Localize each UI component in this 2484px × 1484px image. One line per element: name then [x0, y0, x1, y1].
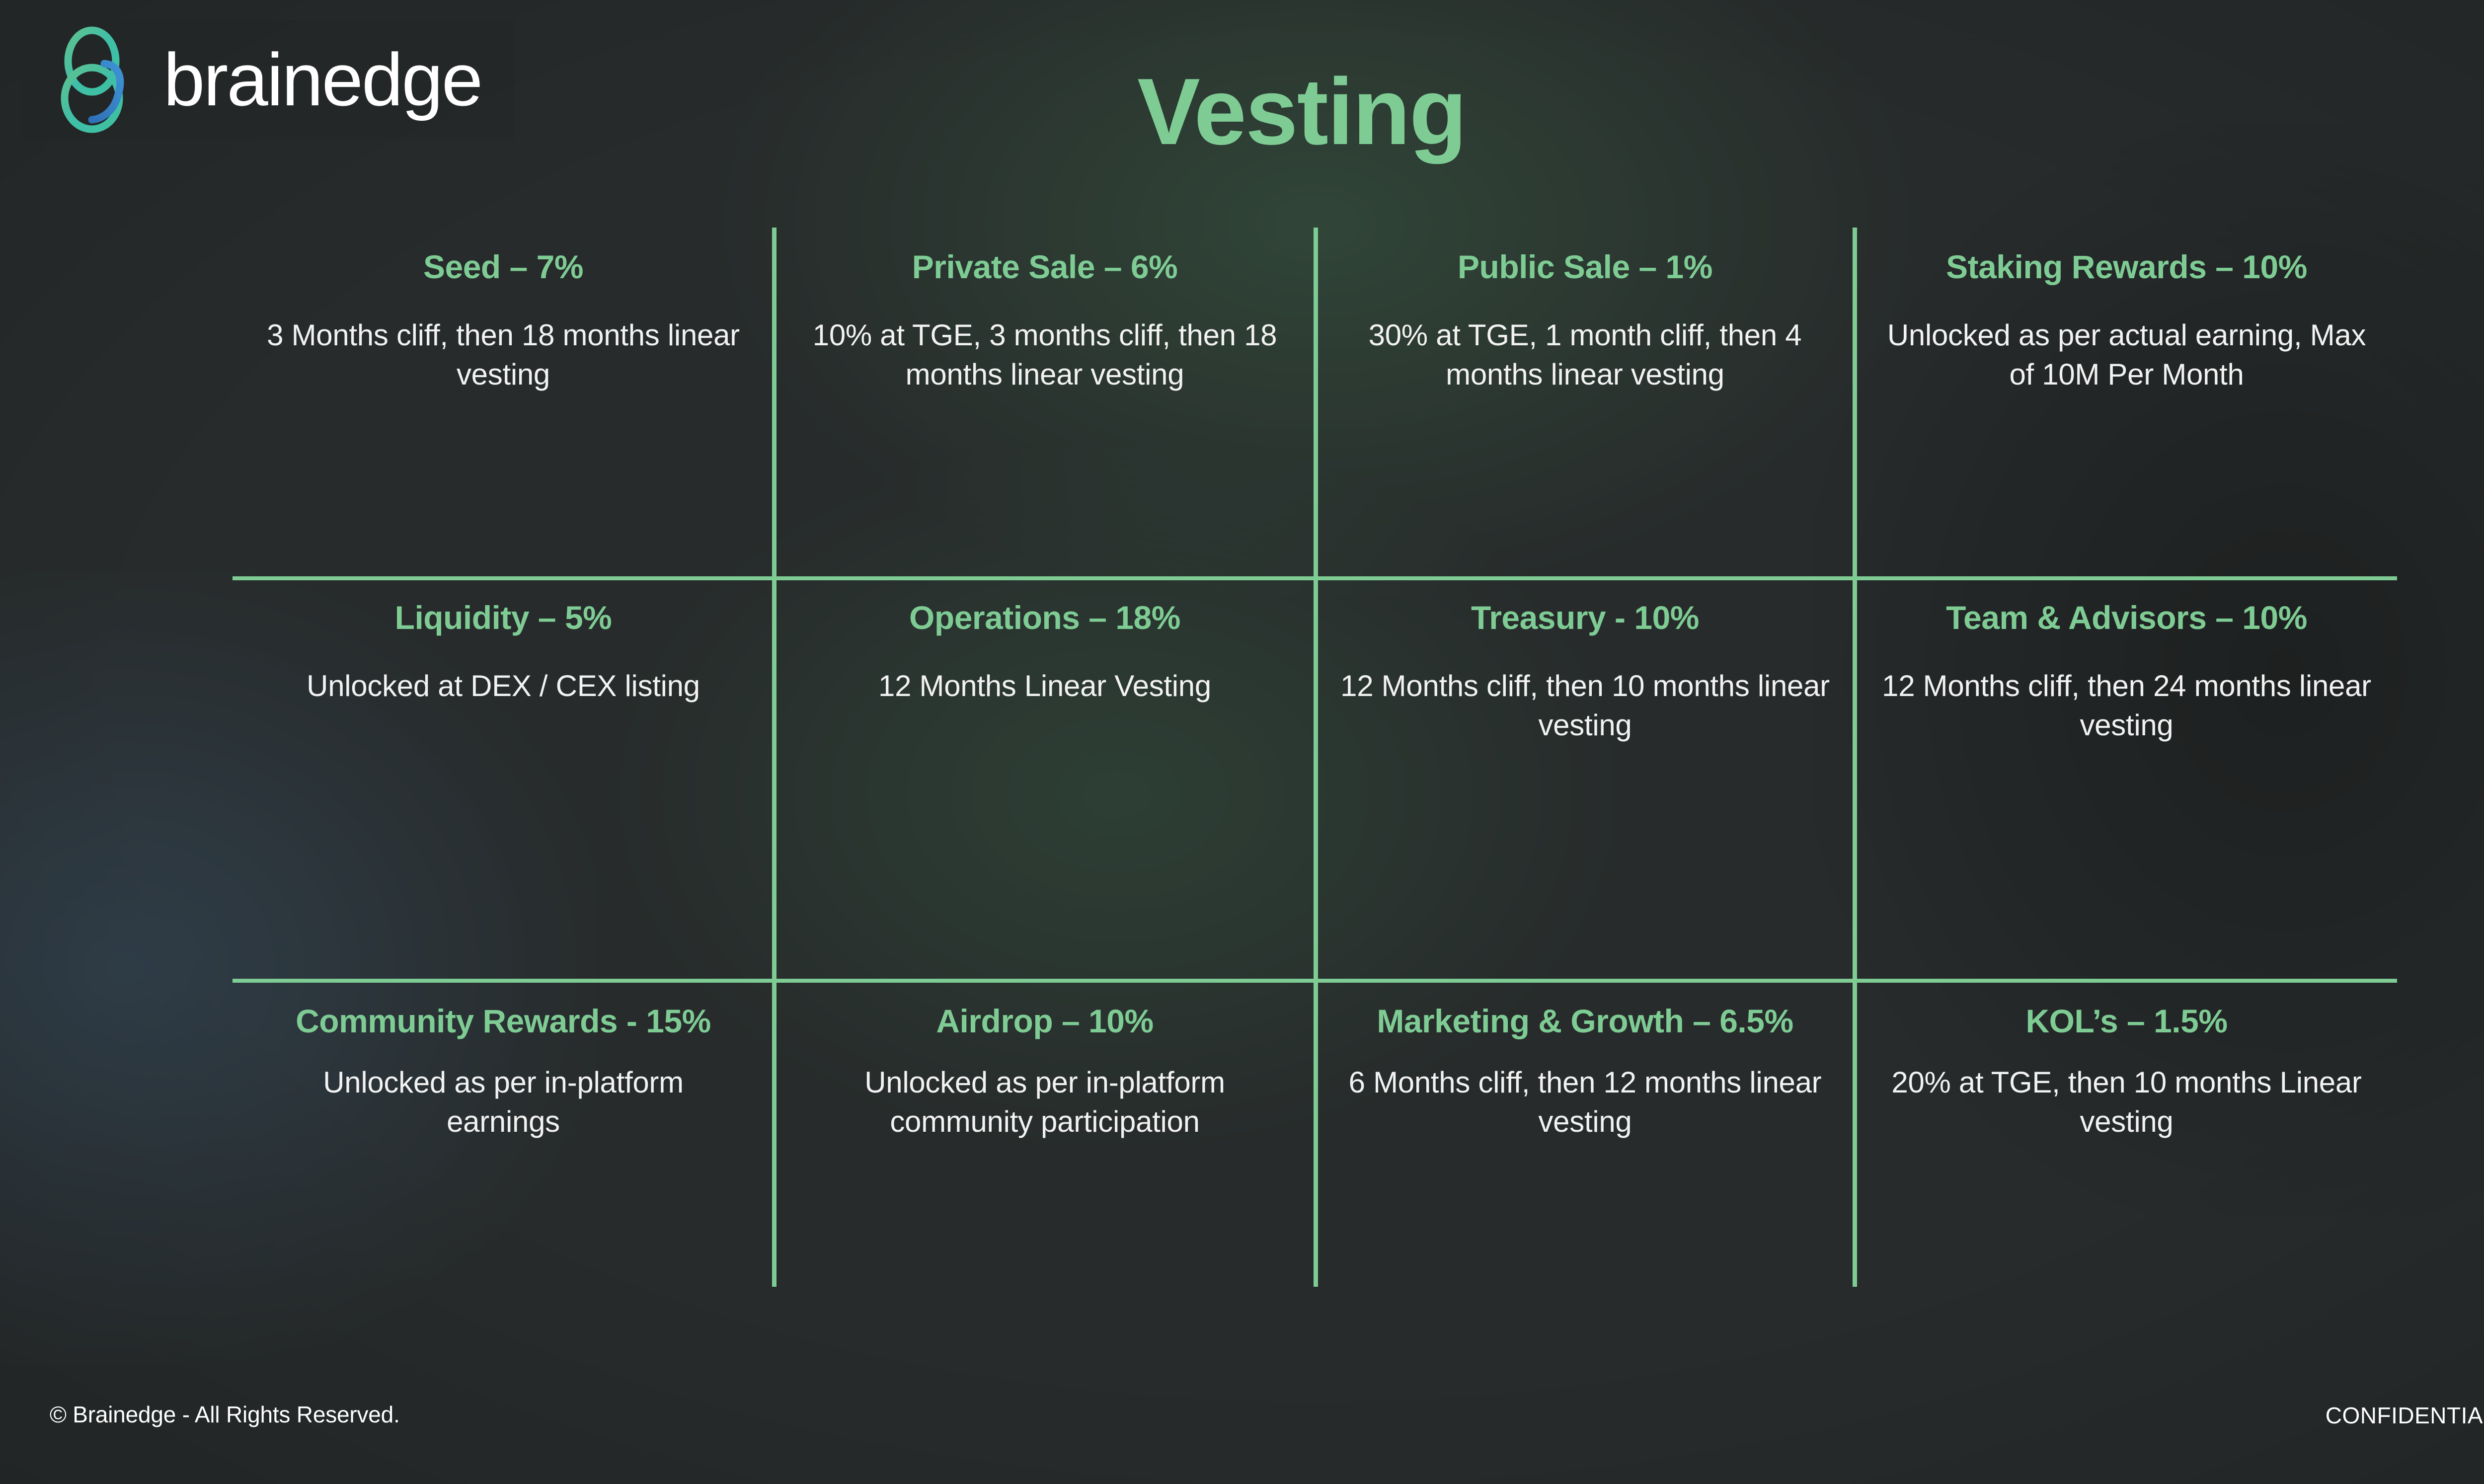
grid-divider-horizontal-1 — [233, 576, 2397, 580]
vesting-cell-body: 6 Months cliff, then 12 months linear ve… — [1334, 1063, 1836, 1141]
vesting-cell-title: Airdrop – 10% — [936, 1001, 1153, 1042]
grid-divider-horizontal-2 — [233, 979, 2397, 983]
vesting-cell-title: Liquidity – 5% — [395, 597, 612, 638]
vesting-cell-body: 12 Months cliff, then 24 months linear v… — [1876, 666, 2378, 745]
vesting-cell-body: 12 Months cliff, then 10 months linear v… — [1334, 666, 1836, 745]
footer-meta: CONFIDENTIAL 21 — [2326, 1400, 2484, 1431]
vesting-cell-body: Unlocked as per in-platform earnings — [275, 1063, 732, 1141]
grid-divider-vertical-1 — [772, 228, 776, 1287]
vesting-cell-body: Unlocked at DEX / CEX listing — [307, 666, 700, 705]
vesting-cell-body: 20% at TGE, then 10 months Linear vestin… — [1876, 1063, 2378, 1141]
grid-divider-vertical-3 — [1853, 228, 1857, 1287]
vesting-cell-liquidity: Liquidity – 5% Unlocked at DEX / CEX lis… — [233, 578, 774, 981]
vesting-cell-seed: Seed – 7% 3 Months cliff, then 18 months… — [233, 228, 774, 578]
vesting-cell-title: KOL’s – 1.5% — [2025, 1001, 2227, 1042]
vesting-cell-title: Staking Rewards – 10% — [1946, 246, 2307, 288]
footer-copyright: © Brainedge - All Rights Reserved. — [50, 1401, 400, 1428]
vesting-cell-private-sale: Private Sale – 6% 10% at TGE, 3 months c… — [774, 228, 1316, 578]
vesting-cell-title: Community Rewards - 15% — [296, 1001, 711, 1042]
vesting-cell-body: Unlocked as per actual earning, Max of 1… — [1876, 315, 2378, 394]
vesting-cell-title: Treasury - 10% — [1471, 597, 1699, 638]
vesting-cell-title: Operations – 18% — [909, 597, 1180, 638]
vesting-cell-body: 12 Months Linear Vesting — [878, 666, 1211, 705]
grid-divider-vertical-2 — [1314, 228, 1318, 1287]
vesting-cell-public-sale: Public Sale – 1% 30% at TGE, 1 month cli… — [1316, 228, 1855, 578]
vesting-cell-title: Private Sale – 6% — [912, 246, 1178, 288]
vesting-cell-staking-rewards: Staking Rewards – 10% Unlocked as per ac… — [1855, 228, 2399, 578]
vesting-cell-body: 10% at TGE, 3 months cliff, then 18 mont… — [794, 315, 1296, 394]
vesting-cell-kols: KOL’s – 1.5% 20% at TGE, then 10 months … — [1855, 981, 2399, 1287]
vesting-cell-operations: Operations – 18% 12 Months Linear Vestin… — [774, 578, 1316, 981]
vesting-cell-body: 30% at TGE, 1 month cliff, then 4 months… — [1334, 315, 1836, 394]
vesting-cell-team-advisors: Team & Advisors – 10% 12 Months cliff, t… — [1855, 578, 2399, 981]
vesting-cell-marketing-growth: Marketing & Growth – 6.5% 6 Months cliff… — [1316, 981, 1855, 1287]
confidential-label: CONFIDENTIAL — [2326, 1402, 2484, 1429]
vesting-cell-title: Seed – 7% — [423, 246, 583, 288]
vesting-cell-body: Unlocked as per in-platform community pa… — [794, 1063, 1296, 1141]
vesting-cell-community-rewards: Community Rewards - 15% Unlocked as per … — [233, 981, 774, 1287]
vesting-cell-title: Marketing & Growth – 6.5% — [1377, 1001, 1793, 1042]
vesting-cell-treasury: Treasury - 10% 12 Months cliff, then 10 … — [1316, 578, 1855, 981]
vesting-cell-airdrop: Airdrop – 10% Unlocked as per in-platfor… — [774, 981, 1316, 1287]
page-title: Vesting — [0, 65, 2484, 159]
vesting-cell-body: 3 Months cliff, then 18 months linear ve… — [252, 315, 754, 394]
vesting-cell-title: Team & Advisors – 10% — [1946, 597, 2307, 638]
vesting-cell-title: Public Sale – 1% — [1458, 246, 1712, 288]
